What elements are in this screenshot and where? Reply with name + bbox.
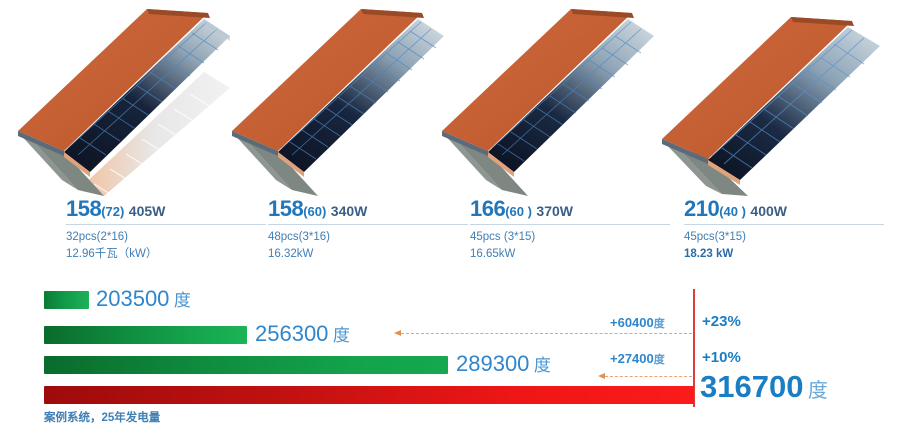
bar-value-number: 289300 xyxy=(456,351,529,376)
delta-value: +60400 xyxy=(610,315,654,330)
arrow-head-icon xyxy=(598,373,605,379)
percent-value: +10% xyxy=(702,349,741,366)
bar-row-2 xyxy=(44,326,247,344)
bar-value-unit: 度 xyxy=(333,326,350,345)
delta-arrow-1 xyxy=(394,329,692,338)
bar-value-number: 256300 xyxy=(255,321,328,346)
percent-value: +23% xyxy=(702,313,741,330)
bar-value-2: 256300 度 xyxy=(255,323,350,345)
bar-row-1 xyxy=(44,291,89,309)
arrow-shaft xyxy=(401,333,692,334)
delta-unit: 度 xyxy=(654,354,665,366)
bar-value-1: 203500 度 xyxy=(96,288,191,310)
bar-value-number: 203500 xyxy=(96,286,169,311)
arrow-head-icon xyxy=(394,330,401,336)
bar-value-number: 316700 xyxy=(700,369,803,404)
delta-unit: 度 xyxy=(654,318,665,330)
percent-label-2: +10% xyxy=(702,350,741,365)
delta-arrow-2 xyxy=(598,372,692,381)
bar-value-unit: 度 xyxy=(808,380,828,402)
energy-yield-bar-chart: 203500 度 256300 度 289300 度 316700 度 +604… xyxy=(0,0,900,430)
bar-row-4 xyxy=(44,386,694,404)
bar-value-4: 316700 度 xyxy=(700,371,828,402)
chart-caption: 案例系统，25年发电量 xyxy=(44,409,160,425)
delta-value: +27400 xyxy=(610,351,654,366)
delta-label-2: +27400度 xyxy=(610,352,665,366)
delta-label-1: +60400度 xyxy=(610,316,665,330)
percent-label-1: +23% xyxy=(702,314,741,329)
arrow-shaft xyxy=(605,376,692,377)
bar-row-3 xyxy=(44,356,448,374)
bar-value-unit: 度 xyxy=(174,291,191,310)
bar-value-unit: 度 xyxy=(534,356,551,375)
solar-comparison-infographic: 158(72) 405W 32pcs(2*16) 12.96千瓦（kW） 158… xyxy=(0,0,900,430)
bar-value-3: 289300 度 xyxy=(456,353,551,375)
